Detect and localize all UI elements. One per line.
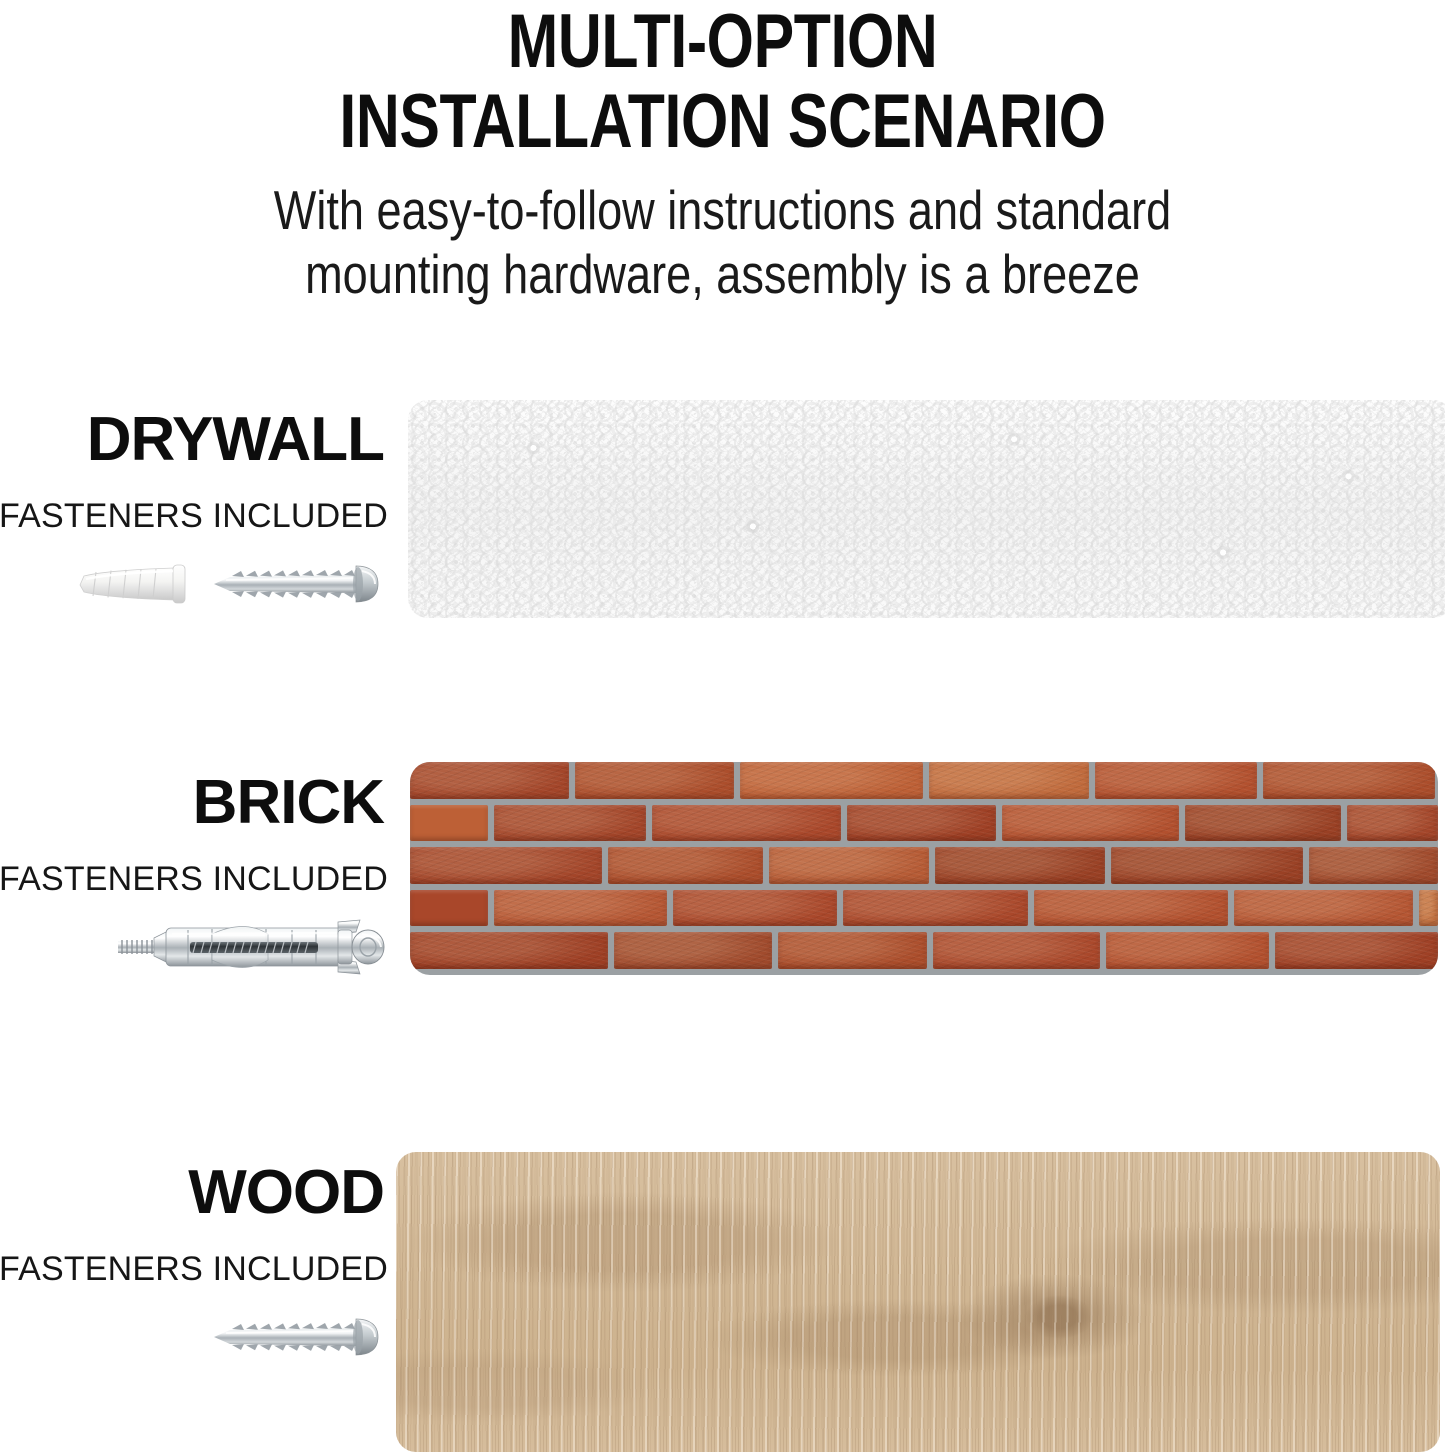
brick-course — [410, 805, 1438, 842]
header-block: MULTI-OPTION INSTALLATION SCENARIO With … — [0, 0, 1445, 306]
brick — [1419, 890, 1438, 927]
brick-course — [410, 890, 1438, 927]
brick — [1185, 805, 1341, 842]
brick — [410, 847, 602, 884]
brick — [1234, 890, 1413, 927]
wood-texture-panel — [396, 1152, 1440, 1452]
brick — [1275, 932, 1438, 969]
plastic-wall-anchor-icon — [74, 562, 192, 606]
brick — [843, 890, 1028, 927]
brick — [608, 847, 763, 884]
drywall-hardware-group — [74, 552, 388, 616]
page-subtitle: With easy-to-follow instructions and sta… — [130, 162, 1315, 306]
brick — [847, 805, 996, 842]
brick-texture-panel — [410, 762, 1438, 975]
brick-course — [410, 762, 1438, 799]
brick — [929, 762, 1089, 799]
surface-row-brick: BRICK FASTENERS INCLUDED — [0, 755, 1445, 985]
brick — [740, 762, 923, 799]
brick — [575, 762, 734, 799]
wood-screw-icon — [206, 562, 388, 606]
surface-name-wood: WOOD — [188, 1159, 384, 1227]
wood-label-column: WOOD FASTENERS INCLUDED — [0, 1145, 392, 1367]
surface-row-drywall: DRYWALL FASTENERS INCLUDED — [0, 392, 1445, 628]
brick — [1106, 932, 1269, 969]
wood-hardware-group — [206, 1305, 388, 1369]
brick — [1347, 805, 1438, 842]
fasteners-note-drywall: FASTENERS INCLUDED — [0, 496, 388, 536]
brick — [1111, 847, 1303, 884]
brick-hardware-group — [116, 915, 388, 979]
surface-name-brick: BRICK — [193, 769, 384, 837]
brick — [935, 847, 1105, 884]
brick — [494, 805, 646, 842]
brick — [410, 890, 488, 927]
brick — [410, 762, 569, 799]
mortar-joint — [1435, 762, 1438, 799]
brick — [673, 890, 837, 927]
brick — [933, 932, 1100, 969]
drywall-texture-panel — [408, 400, 1445, 618]
brick — [494, 890, 667, 927]
fasteners-note-brick: FASTENERS INCLUDED — [0, 859, 388, 899]
brick — [1263, 762, 1435, 799]
brick — [1309, 847, 1438, 884]
brick-course — [410, 847, 1438, 884]
drywall-label-column: DRYWALL FASTENERS INCLUDED — [0, 392, 392, 628]
brick — [778, 932, 927, 969]
surface-row-wood: WOOD FASTENERS INCLUDED — [0, 1145, 1445, 1367]
brick — [410, 932, 608, 969]
brick — [410, 805, 488, 842]
brick-courses — [410, 762, 1438, 975]
brick — [1034, 890, 1228, 927]
surface-name-drywall: DRYWALL — [87, 406, 384, 474]
brick-course — [410, 932, 1438, 969]
brick — [769, 847, 929, 884]
wood-screw-icon — [206, 1315, 388, 1359]
hollow-wall-molly-bolt-icon — [116, 918, 388, 976]
brick — [1095, 762, 1257, 799]
brick — [652, 805, 841, 842]
brick-label-column: BRICK FASTENERS INCLUDED — [0, 755, 392, 985]
page-title: MULTI-OPTION INSTALLATION SCENARIO — [145, 0, 1301, 162]
fasteners-note-wood: FASTENERS INCLUDED — [0, 1249, 388, 1289]
brick — [614, 932, 772, 969]
brick — [1002, 805, 1179, 842]
